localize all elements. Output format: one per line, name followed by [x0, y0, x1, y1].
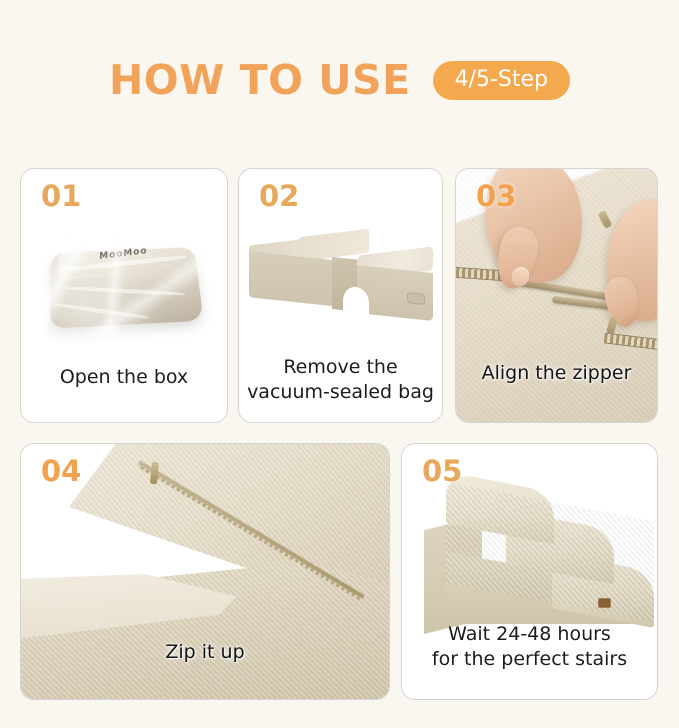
- step-number: 05: [422, 457, 462, 486]
- page-title: HOW TO USE: [109, 60, 411, 101]
- step-caption: Wait 24-48 hours for the perfect stairs: [402, 622, 657, 672]
- brand-label-tag: [598, 598, 611, 608]
- step-number: 02: [259, 182, 299, 211]
- foam-handle: [407, 292, 425, 305]
- step-caption-line-1: Wait 24-48 hours: [410, 622, 649, 647]
- header: HOW TO USE 4/5-Step: [0, 50, 679, 110]
- step-card-04: 04 Zip it up: [20, 443, 390, 700]
- step-card-01: MooMoo 01 Open the box: [20, 168, 228, 423]
- step-caption: Zip it up: [21, 640, 389, 665]
- step-caption-line-2: for the perfect stairs: [410, 647, 649, 672]
- step-number: 04: [41, 457, 81, 486]
- step-caption: Open the box: [21, 365, 227, 390]
- step-caption: Align the zipper: [456, 361, 657, 386]
- step-count-badge: 4/5-Step: [433, 61, 570, 100]
- step-number: 01: [41, 182, 81, 211]
- step-caption-line-1: Remove the: [247, 355, 434, 380]
- step-number: 03: [476, 182, 516, 211]
- step-card-03: 03 Align the zipper: [455, 168, 658, 423]
- step-caption-line-2: vacuum-sealed bag: [247, 380, 434, 405]
- step-card-02: 02 Remove the vacuum-sealed bag: [238, 168, 443, 423]
- package-illustration: MooMoo: [43, 231, 207, 337]
- step-caption: Remove the vacuum-sealed bag: [239, 355, 442, 405]
- step-card-05: 05 Wait 24-48 hours for the perfect stai…: [401, 443, 658, 700]
